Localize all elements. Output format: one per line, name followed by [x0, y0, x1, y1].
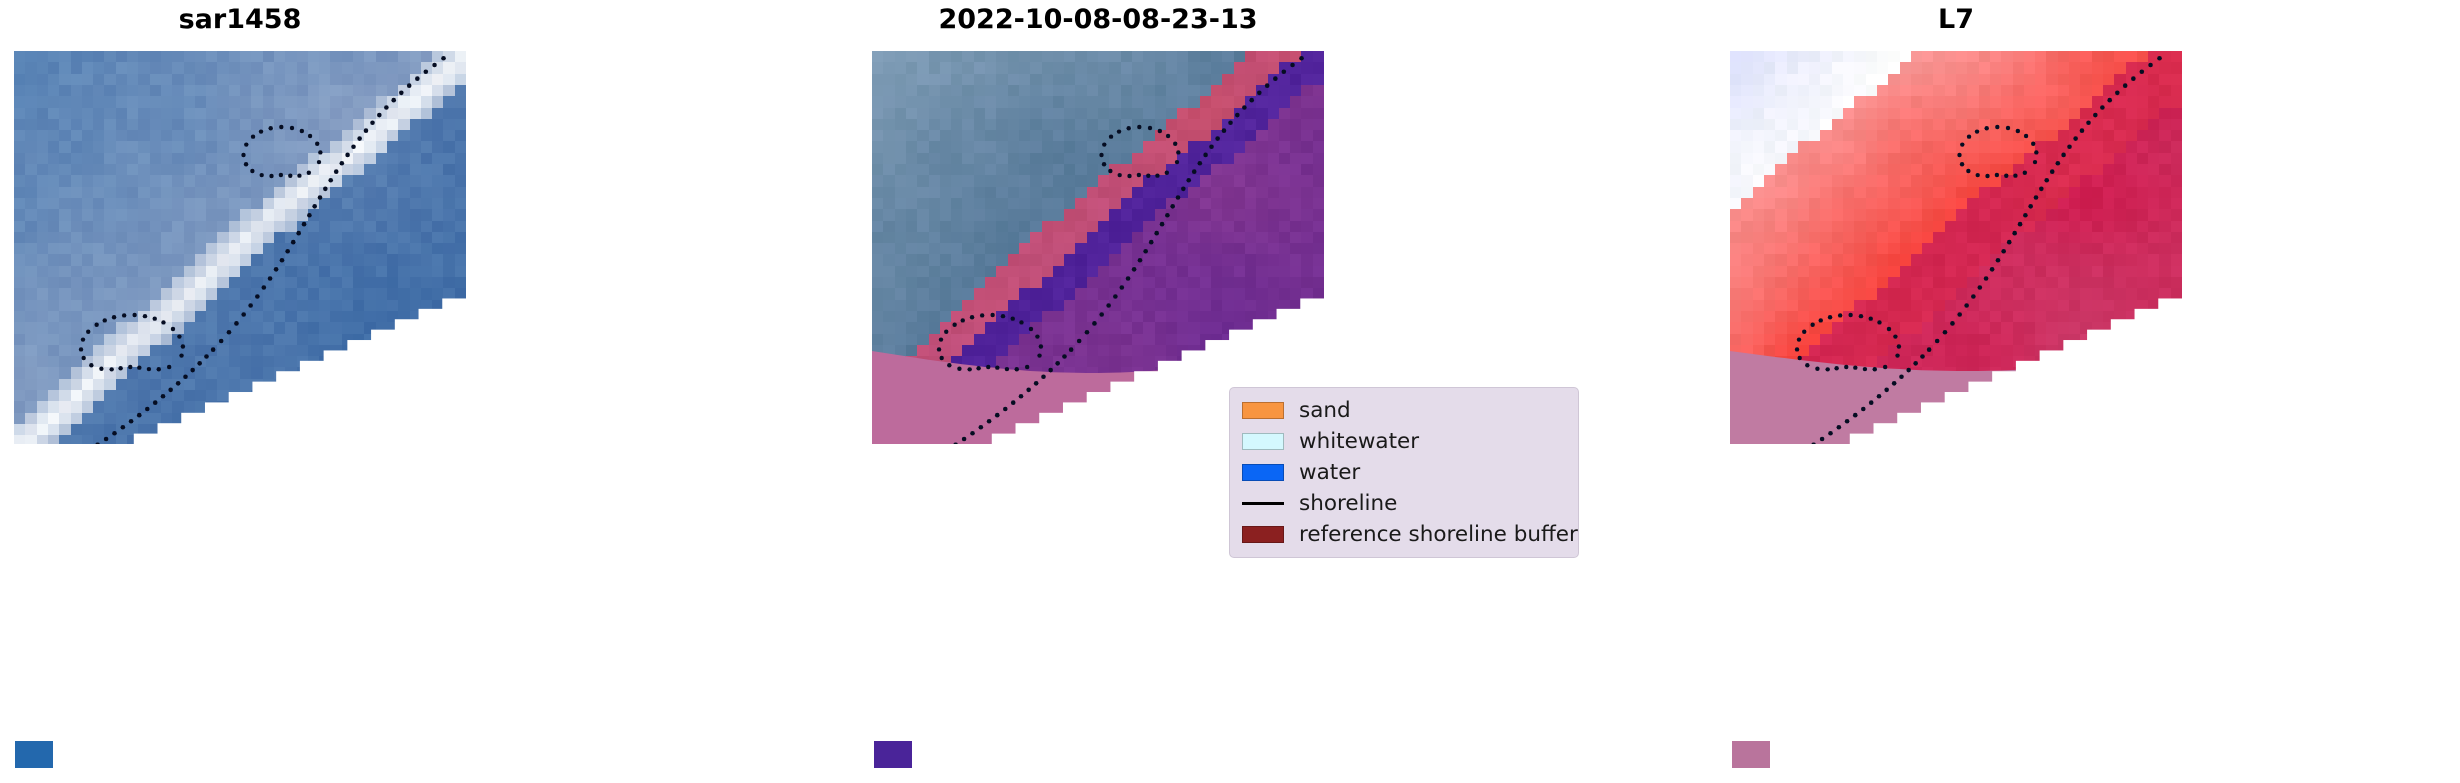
classified-image[interactable] [872, 51, 1324, 444]
panel-title-classified: 2022-10-08-08-23-13 [872, 4, 1324, 35]
legend: sand whitewater water shoreline [1229, 387, 1579, 558]
orphan-pixel-block-sar1458 [15, 741, 53, 768]
legend-item-whitewater[interactable]: whitewater [1239, 426, 1568, 457]
legend-item-shoreline[interactable]: shoreline [1239, 488, 1568, 519]
panel-classified: 2022-10-08-08-23-13 sand whitewater [872, 0, 1324, 783]
legend-item-water[interactable]: water [1239, 457, 1568, 488]
figure-canvas: sar1458 2022-10-08-08-23-13 sand whi [0, 0, 2460, 783]
legend-item-sand[interactable]: sand [1239, 395, 1568, 426]
index-image-l7[interactable] [1730, 51, 2182, 444]
panel-title-sar1458: sar1458 [14, 4, 466, 35]
legend-label-shoreline: shoreline [1287, 493, 1397, 515]
panel-l7: L7 [1730, 0, 2182, 783]
legend-label-water: water [1287, 462, 1360, 484]
line-sample-icon [1239, 502, 1287, 505]
orphan-pixel-block-l7 [1732, 741, 1770, 768]
panel-title-l7: L7 [1730, 4, 2182, 35]
legend-item-reference-shoreline-buffer[interactable]: reference shoreline buffer [1239, 519, 1568, 550]
satellite-image-sar1458[interactable] [14, 51, 466, 444]
color-swatch-icon [1239, 402, 1287, 419]
panel-sar1458: sar1458 [14, 0, 466, 783]
color-swatch-icon [1239, 526, 1287, 543]
legend-label-whitewater: whitewater [1287, 431, 1419, 453]
color-swatch-icon [1239, 464, 1287, 481]
legend-label-reference-shoreline-buffer: reference shoreline buffer [1287, 524, 1578, 546]
color-swatch-icon [1239, 433, 1287, 450]
orphan-pixel-block-classified [874, 741, 912, 768]
legend-label-sand: sand [1287, 400, 1351, 422]
